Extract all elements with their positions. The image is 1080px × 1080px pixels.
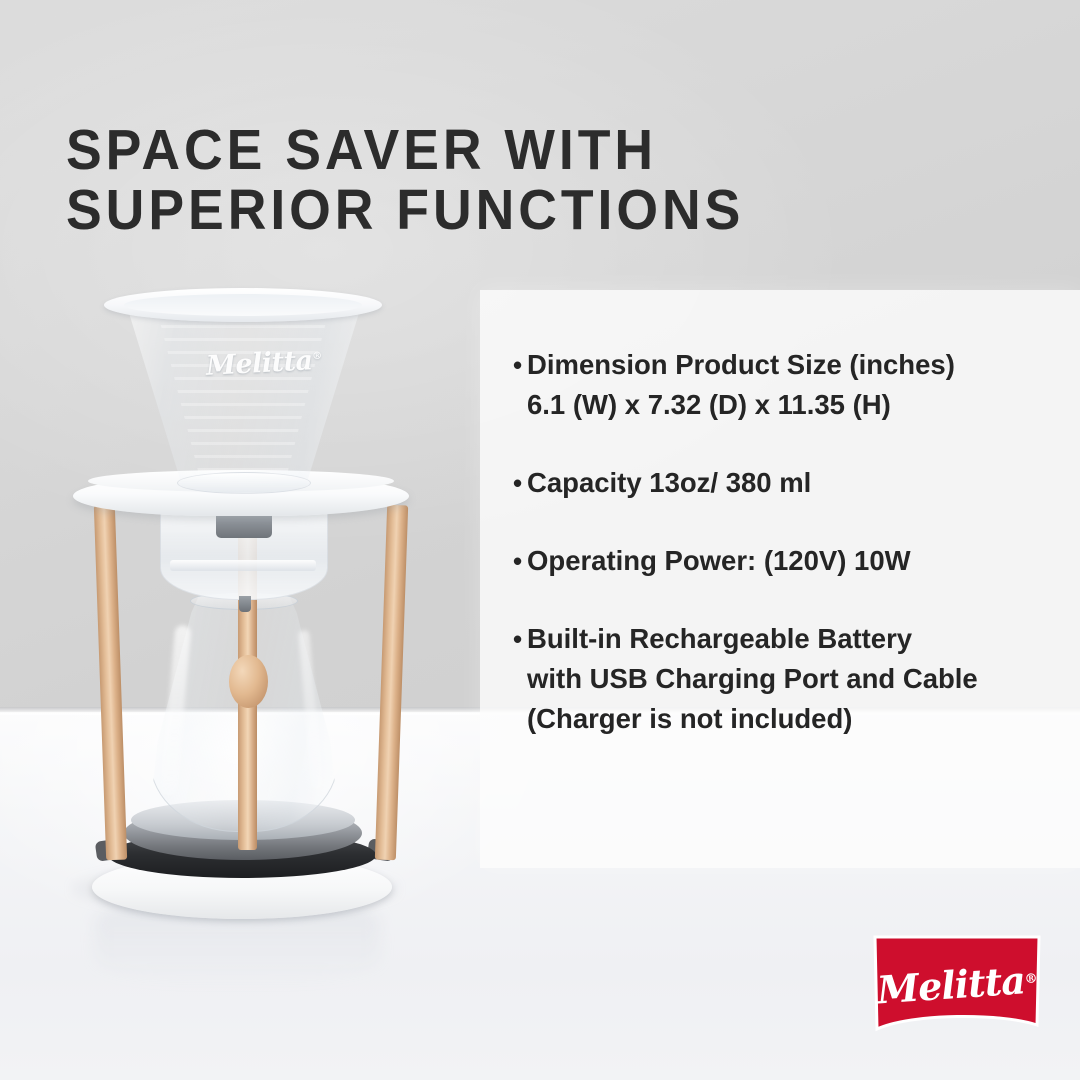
- product-dripper-band: [170, 560, 316, 571]
- product-wooden-leg-right: [375, 505, 408, 861]
- spec-line: (Charger is not included): [527, 699, 1073, 739]
- list-item: • Capacity 13oz/ 380 ml: [513, 463, 1073, 503]
- list-item: • Operating Power: (120V) 10W: [513, 541, 1073, 581]
- product-image-coffee-maker: Melitta®: [0, 0, 480, 1000]
- spec-line: Capacity 13oz/ 380 ml: [527, 463, 1073, 503]
- product-dripper-spout: [239, 596, 251, 612]
- spec-text: Dimension Product Size (inches) 6.1 (W) …: [527, 345, 1073, 425]
- product-wooden-knob: [229, 655, 268, 708]
- spec-line: 6.1 (W) x 7.32 (D) x 11.35 (H): [527, 385, 1073, 425]
- melitta-brand-logo: Melitta®: [872, 933, 1042, 1041]
- brand-registered-mark: ®: [1024, 971, 1037, 987]
- cone-logo-text: Melitta: [205, 345, 313, 382]
- spec-line: with USB Charging Port and Cable: [527, 659, 1073, 699]
- spec-text: Capacity 13oz/ 380 ml: [527, 463, 1073, 503]
- spec-text: Built-in Rechargeable Battery with USB C…: [527, 619, 1073, 739]
- bullet-icon: •: [513, 541, 527, 581]
- brand-name-text: Melitta: [875, 957, 1026, 1012]
- product-feature-poster: SPACE SAVER WITH SUPERIOR FUNCTIONS Meli…: [0, 0, 1080, 1080]
- specifications-list: • Dimension Product Size (inches) 6.1 (W…: [513, 345, 1073, 739]
- bullet-icon: •: [513, 463, 527, 503]
- brand-wordmark: Melitta®: [868, 927, 1045, 1047]
- cone-logo-registered-mark: ®: [312, 351, 322, 362]
- spec-line: Operating Power: (120V) 10W: [527, 541, 1073, 581]
- spec-line: Dimension Product Size (inches): [527, 345, 1073, 385]
- spec-line: Built-in Rechargeable Battery: [527, 619, 1073, 659]
- list-item: • Dimension Product Size (inches) 6.1 (W…: [513, 345, 1073, 425]
- bullet-icon: •: [513, 619, 527, 739]
- spec-text: Operating Power: (120V) 10W: [527, 541, 1073, 581]
- bullet-icon: •: [513, 345, 527, 425]
- product-cone-base: [177, 472, 311, 494]
- product-wooden-leg-left: [94, 505, 127, 861]
- product-cone-rim-inner: [124, 294, 362, 316]
- product-cone-melitta-logo: Melitta®: [205, 345, 316, 382]
- list-item: • Built-in Rechargeable Battery with USB…: [513, 619, 1073, 739]
